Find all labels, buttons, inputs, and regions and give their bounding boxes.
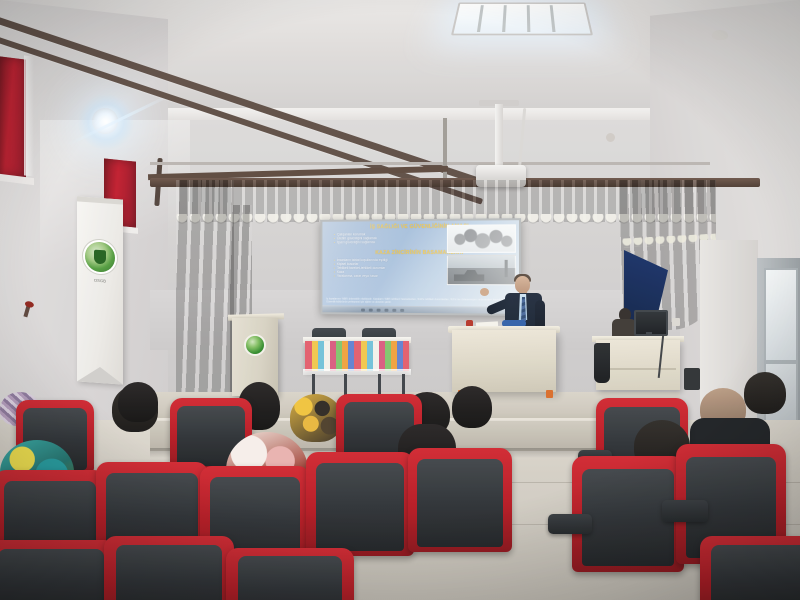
audience-head-black-hair [118, 382, 158, 422]
ceiling-light-panel [451, 3, 593, 36]
ceiling-sensor-icon [712, 30, 728, 40]
lectern-emblem-icon [246, 336, 264, 354]
patchwork-tablecloth [305, 341, 409, 371]
slide-paragraph: İş kazalarının %98'i önlenebilir nitelik… [326, 297, 515, 305]
auditorium-seat[interactable] [700, 536, 800, 600]
presenter-hand [480, 288, 489, 296]
auditorium-seat[interactable] [0, 540, 116, 600]
window-light [24, 55, 34, 176]
presentation-slide: İŞ SAĞLIĞI VE GÜVENLİĞİNİN AMACI Çalışan… [322, 220, 519, 314]
presenter-desk [452, 330, 556, 392]
audience-head-right-man [744, 372, 786, 414]
seat-armrest [548, 514, 592, 534]
gears-diagram-icon [447, 224, 516, 253]
green-emblem-icon [85, 241, 115, 273]
banner-bottom-notch [77, 365, 123, 384]
window-curtain-red-1 [0, 56, 26, 177]
hanging-coat [594, 343, 610, 383]
audience-head-dark [452, 386, 492, 428]
desk-foot [546, 390, 553, 398]
projector-conduit [443, 118, 447, 182]
wall-socket-icon [672, 318, 680, 326]
projection-screen-frame: İŞ SAĞLIĞI VE GÜVENLİĞİNİN AMACI Çalışan… [320, 218, 521, 316]
waste-bin [684, 368, 700, 390]
stage-curtain-left [176, 180, 234, 408]
seat-armrest [662, 500, 708, 522]
desk-shelf [600, 368, 676, 370]
construction-site-image [447, 255, 516, 286]
wall-conduit [150, 162, 710, 165]
projection-screen: İŞ SAĞLIĞI VE GÜVENLİĞİNİN AMACI Çalışan… [322, 220, 519, 314]
auditorium-seat[interactable] [306, 452, 414, 556]
seminar-room-photo: OSGB İŞ SAĞLIĞI VE GÜVENLİĞİNİN AMACI Ça… [0, 0, 800, 600]
banner-caption: OSGB [81, 277, 119, 286]
lens-flare-icon [78, 94, 134, 150]
door-glass-panel[interactable] [764, 268, 798, 362]
tablecloth-lace-skirt [303, 369, 411, 375]
emblem-inner-shape [94, 250, 106, 265]
sprinkler-icon [606, 133, 615, 142]
roll-up-banner: OSGB [77, 196, 123, 384]
auditorium-seat[interactable] [104, 536, 234, 600]
projector-pole [495, 104, 503, 168]
auditorium-seat[interactable] [408, 448, 512, 552]
auditorium-seat[interactable] [226, 548, 354, 600]
